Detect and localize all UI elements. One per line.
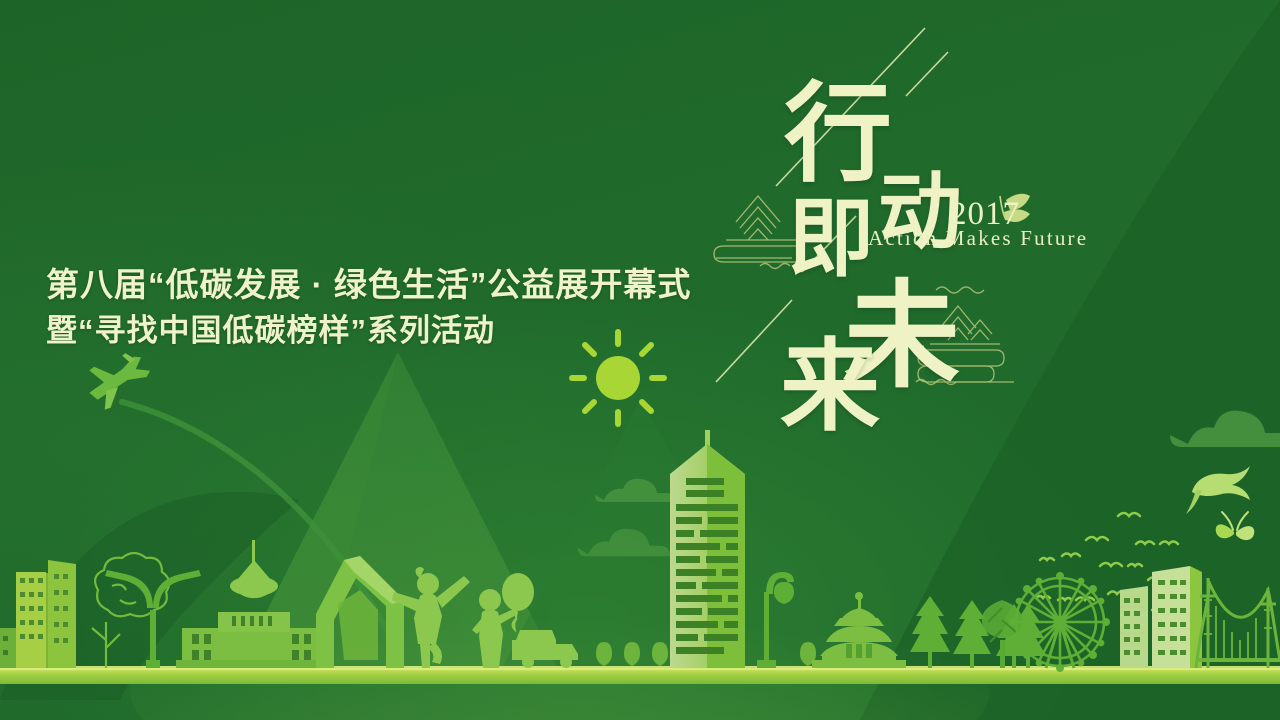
text-layer: 行 动 即 未 来 2017 Action Makes Future 第八届“低… [0, 0, 1280, 720]
title-char-lai: 来 [780, 338, 880, 438]
english-tagline: Action Makes Future [868, 226, 1088, 251]
title-char-ji: 即 [788, 196, 874, 282]
subtitle-line-1: 第八届“低碳发展 · 绿色生活”公益展开幕式 [46, 262, 691, 309]
title-char-xing: 行 [784, 82, 892, 190]
poster-canvas: 行 动 即 未 来 2017 Action Makes Future 第八届“低… [0, 0, 1280, 720]
subtitle-line-2: 暨“寻找中国低碳榜样”系列活动 [46, 309, 691, 353]
event-subtitle: 第八届“低碳发展 · 绿色生活”公益展开幕式 暨“寻找中国低碳榜样”系列活动 [46, 262, 691, 353]
